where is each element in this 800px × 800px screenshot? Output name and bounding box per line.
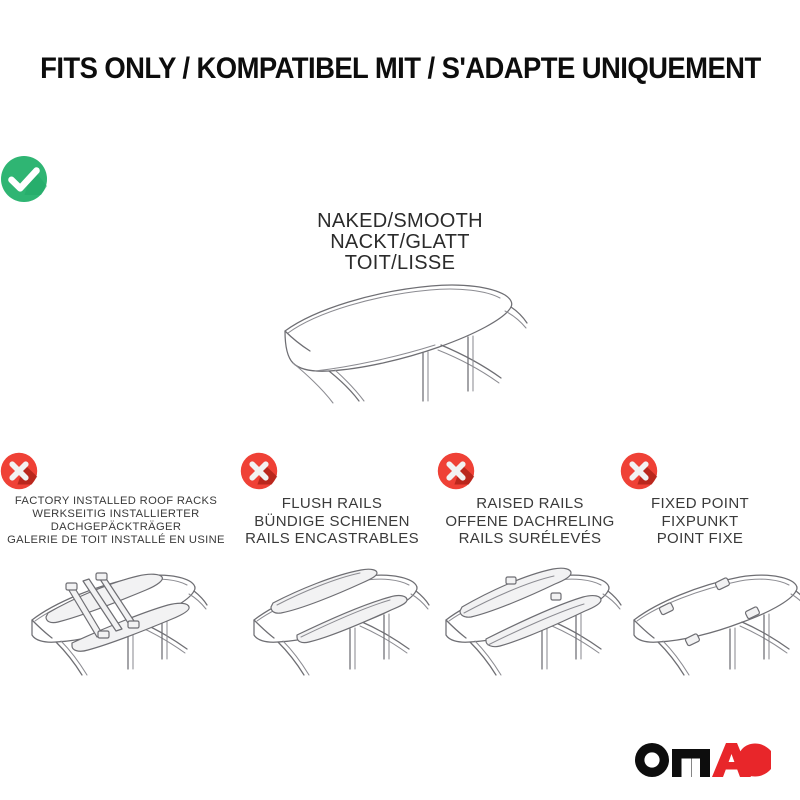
label-de-1: WERKSEITIG INSTALLIERTER — [0, 508, 232, 521]
label-en: RAISED RAILS — [437, 495, 623, 513]
x-circle-icon — [0, 452, 232, 490]
x-circle-icon — [240, 452, 424, 490]
label-en: FACTORY INSTALLED ROOF RACKS — [0, 495, 232, 508]
label-de: FIXPUNKT — [620, 513, 780, 531]
incompatible-item-fixed-point: FIXED POINT FIXPUNKT POINT FIXE — [620, 452, 780, 548]
label-en: FIXED POINT — [620, 495, 780, 513]
car-roof-factory-rack-illustration — [10, 547, 225, 707]
car-roof-flush-rails-illustration — [232, 547, 432, 707]
compatible-label-de: NACKT/GLATT — [0, 232, 800, 253]
incompatible-labels: FIXED POINT FIXPUNKT POINT FIXE — [620, 495, 780, 548]
label-fr: RAILS SURÉLEVÉS — [437, 530, 623, 548]
label-fr: POINT FIXE — [620, 530, 780, 548]
car-roof-raised-rails-illustration — [424, 547, 624, 707]
x-circle-icon — [437, 452, 623, 490]
omac-logo — [634, 742, 772, 778]
incompatible-item-raised-rails: RAISED RAILS OFFENE DACHRELING RAILS SUR… — [437, 452, 623, 548]
compatible-labels: NAKED/SMOOTH NACKT/GLATT TOIT/LISSE — [0, 211, 800, 274]
compatible-label-fr: TOIT/LISSE — [0, 253, 800, 274]
incompatible-item-factory-installed-roof-racks: FACTORY INSTALLED ROOF RACKS WERKSEITIG … — [0, 452, 232, 547]
label-fr: GALERIE DE TOIT INSTALLÉ EN USINE — [0, 534, 232, 547]
label-de-2: DACHGEPÄCKTRÄGER — [0, 521, 232, 534]
page-title-text: FITS ONLY / KOMPATIBEL MIT / S'ADAPTE UN… — [40, 52, 761, 86]
incompatible-item-flush-rails: FLUSH RAILS BÜNDIGE SCHIENEN RAILS ENCAS… — [240, 452, 424, 548]
page-title: FITS ONLY / KOMPATIBEL MIT / S'ADAPTE UN… — [0, 52, 800, 86]
label-de: BÜNDIGE SCHIENEN — [240, 513, 424, 531]
label-en: FLUSH RAILS — [240, 495, 424, 513]
car-roof-naked-smooth-illustration — [255, 275, 575, 415]
label-de: OFFENE DACHRELING — [437, 513, 623, 531]
compatible-section: NAKED/SMOOTH NACKT/GLATT TOIT/LISSE — [0, 155, 800, 274]
incompatible-labels: FACTORY INSTALLED ROOF RACKS WERKSEITIG … — [0, 495, 232, 547]
incompatible-labels: FLUSH RAILS BÜNDIGE SCHIENEN RAILS ENCAS… — [240, 495, 424, 548]
label-fr: RAILS ENCASTRABLES — [240, 530, 424, 548]
check-circle-icon — [0, 155, 800, 203]
compatible-label-en: NAKED/SMOOTH — [0, 211, 800, 232]
car-roof-fixed-point-illustration — [612, 547, 800, 707]
incompatible-section: FACTORY INSTALLED ROOF RACKS WERKSEITIG … — [0, 452, 800, 752]
x-circle-icon — [620, 452, 780, 490]
incompatible-labels: RAISED RAILS OFFENE DACHRELING RAILS SUR… — [437, 495, 623, 548]
